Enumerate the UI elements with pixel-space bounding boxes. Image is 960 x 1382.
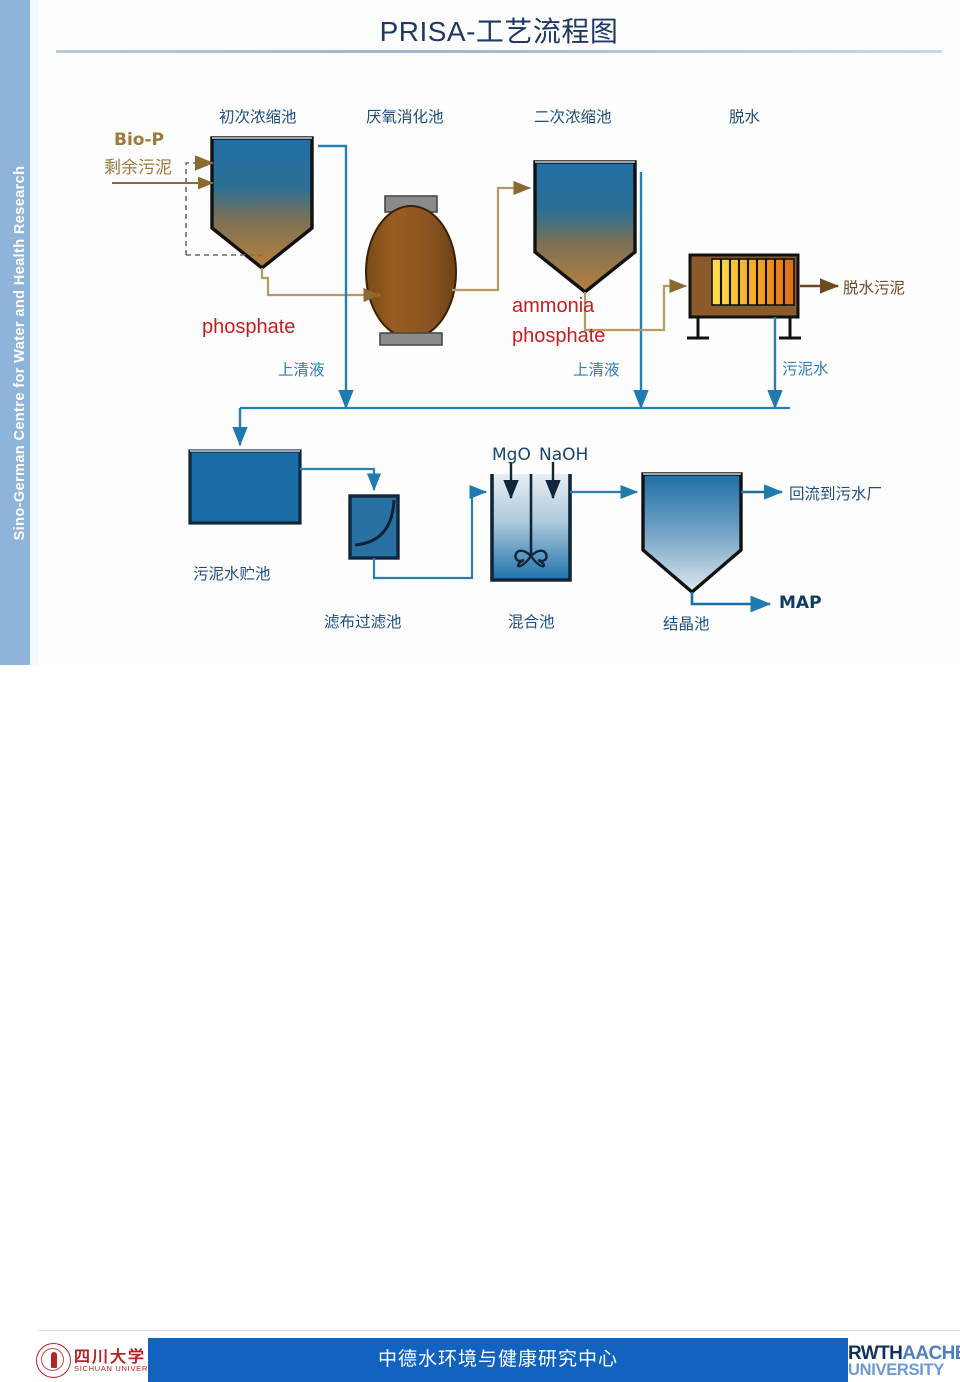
label-excess-sludge: 剩余污泥 [104,153,172,178]
pipe-map-out [692,592,770,604]
vessel-secondary-thickener [535,162,635,292]
label-ammonia: ammonia [512,295,594,318]
scu-torch-icon [51,1352,57,1368]
pipe-digested-sludge-to-thickener2 [452,188,530,290]
label-crystallizer: 结晶池 [663,612,710,634]
sichuan-university-logo: 四川大学 SICHUAN UNIVERSITY [36,1341,162,1379]
footer-divider [38,1330,960,1331]
label-supernatant-1: 上清液 [278,358,325,380]
vessel-anaerobic-digester [366,196,456,345]
pipe-thickened-sludge-to-digester [262,268,380,295]
vessel-crystallizer [643,474,741,592]
scu-seal-icon [36,1343,71,1378]
label-phosphate-2: phosphate [512,325,605,348]
label-dewatered-sludge: 脱水污泥 [843,276,905,298]
label-dewatering: 脱水 [729,105,760,127]
process-flow-diagram: 初次浓缩池 厌氧消化池 二次浓缩池 脱水 Bio-P 剩余污泥 phosphat… [0,0,960,665]
label-cloth-filter: 滤布过滤池 [324,610,402,632]
pipe-sludge-to-dewatering [585,286,686,330]
slide-root: Sino-German Centre for Water and Health … [0,0,960,720]
rwth-university-word: UNIVERSITY [848,1361,944,1380]
footer-center-bar: 中德水环境与健康研究中心 [148,1338,848,1382]
label-primary-thickener: 初次浓缩池 [219,105,297,127]
vessel-sludge-storage [190,451,300,523]
vessel-filter-press [687,255,801,338]
label-sludge-storage: 污泥水贮池 [193,562,271,584]
label-anaerobic-digester: 厌氧消化池 [366,105,444,127]
label-supernatant-2: 上清液 [573,358,620,380]
label-phosphate-1: phosphate [202,316,295,339]
label-secondary-thickener: 二次浓缩池 [534,105,612,127]
rwth-aachen-logo: RWTHAACHEN UNIVERSITY [848,1343,958,1379]
vessel-primary-thickener [212,138,312,268]
label-mgo: MgO [492,445,531,465]
flow-svg [0,0,960,665]
label-mixing-tank: 混合池 [508,610,555,632]
label-map-product: MAP [779,593,822,613]
label-bio-p: Bio-P [114,130,164,150]
footer: 四川大学 SICHUAN UNIVERSITY 中德水环境与健康研究中心 RWT… [0,665,960,720]
footer-center-text: 中德水环境与健康研究中心 [148,1338,848,1382]
label-naoh: NaOH [539,445,588,465]
label-return-to-wwtp: 回流到污水厂 [789,482,882,504]
label-sludge-water: 污泥水 [782,357,829,379]
pipe-storage-to-filter [300,469,374,490]
vessel-cloth-filter [350,496,398,558]
vessel-mixing-tank [492,474,570,580]
